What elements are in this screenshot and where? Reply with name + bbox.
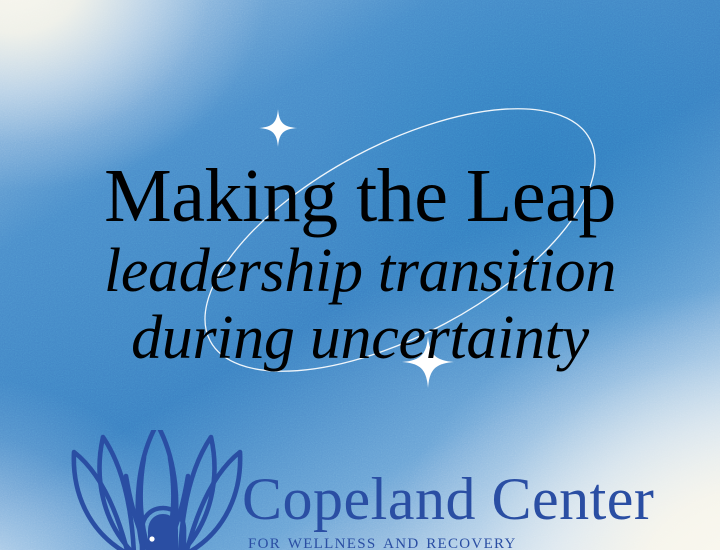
poster-subtitle: leadership transition during uncertainty xyxy=(0,238,720,372)
lotus-flower-icon xyxy=(66,430,248,550)
logo-organization-name: Copeland Center xyxy=(242,470,720,529)
sparkle-bottom-icon xyxy=(402,336,454,388)
logo-tagline: for Wellness and Recovery xyxy=(248,531,720,550)
poster-title: Making the Leap xyxy=(0,158,720,234)
logo-text-block: Copeland Center for Wellness and Recover… xyxy=(242,470,720,550)
poster-subtitle-line-2: during uncertainty xyxy=(0,305,720,372)
poster-canvas: Making the Leap leadership transition du… xyxy=(0,0,720,550)
sparkle-top-left-icon xyxy=(259,109,297,147)
orbit-ellipse xyxy=(166,55,635,425)
copeland-center-logo: Copeland Center for Wellness and Recover… xyxy=(66,430,720,550)
poster-subtitle-line-1: leadership transition xyxy=(0,238,720,305)
